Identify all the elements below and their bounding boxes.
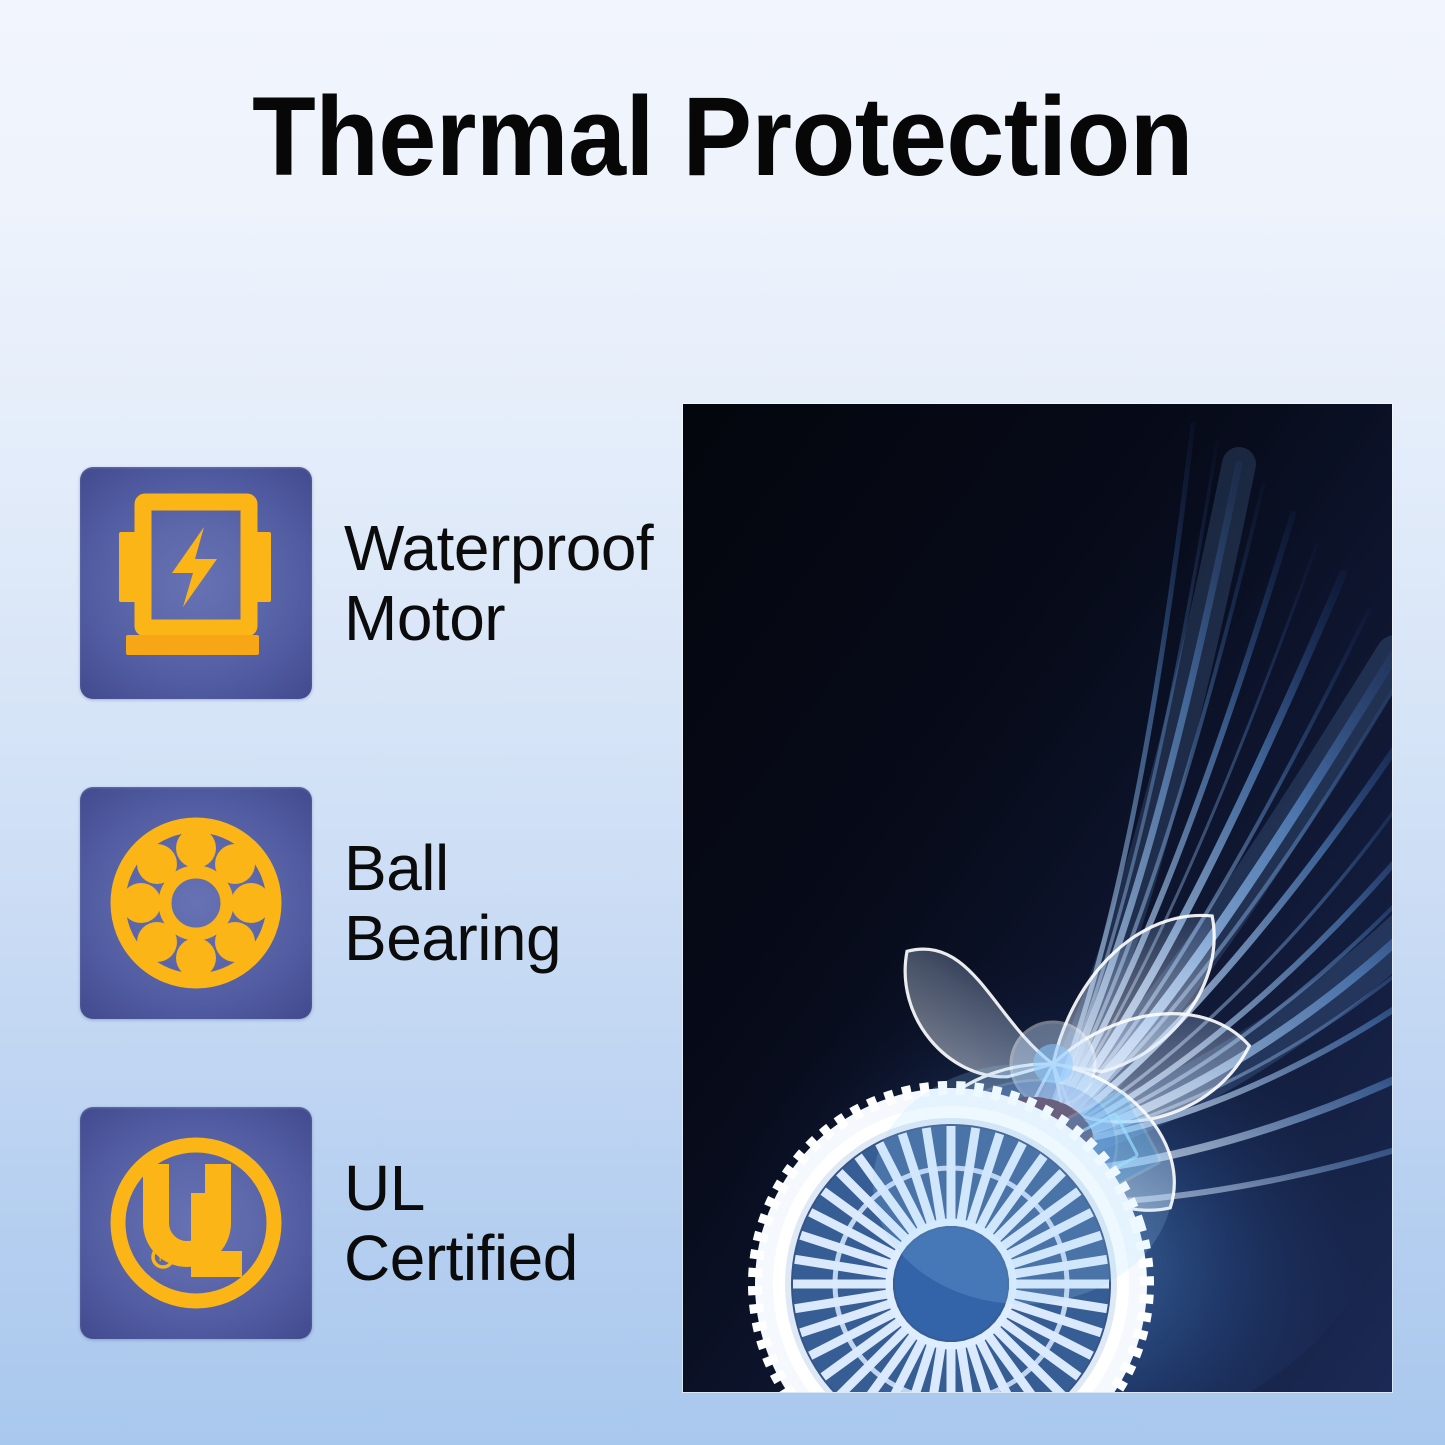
page-title: Thermal Protection <box>51 78 1395 196</box>
svg-text:R: R <box>159 1250 168 1264</box>
feature-label-line-2: Motor <box>344 583 653 653</box>
feature-label-line-2: Bearing <box>344 903 561 973</box>
feature-icon-tile <box>80 467 312 699</box>
feature-item-ball-bearing: Ball Bearing <box>80 787 660 1019</box>
feature-label-line-1: Ball <box>344 833 561 903</box>
ball-bearing-icon <box>80 787 312 1019</box>
waterproof-motor-icon <box>80 467 312 699</box>
feature-item-waterproof-motor: Waterproof Motor <box>80 467 660 699</box>
exploded-fan-motor-airflow-photo <box>683 404 1392 1392</box>
feature-label-line-1: UL <box>344 1153 578 1223</box>
feature-icon-tile <box>80 787 312 1019</box>
feature-label: UL Certified <box>344 1153 578 1294</box>
feature-list: Waterproof Motor <box>80 467 660 1339</box>
feature-label: Waterproof Motor <box>344 513 653 654</box>
feature-item-ul-certified: R UL Certified <box>80 1107 660 1339</box>
feature-label: Ball Bearing <box>344 833 561 974</box>
feature-icon-tile: R <box>80 1107 312 1339</box>
feature-label-line-1: Waterproof <box>344 513 653 583</box>
infographic-page: Thermal Protection Waterp <box>0 0 1445 1445</box>
ul-certified-icon: R <box>80 1107 312 1339</box>
product-image-panel <box>683 404 1392 1392</box>
feature-label-line-2: Certified <box>344 1223 578 1293</box>
